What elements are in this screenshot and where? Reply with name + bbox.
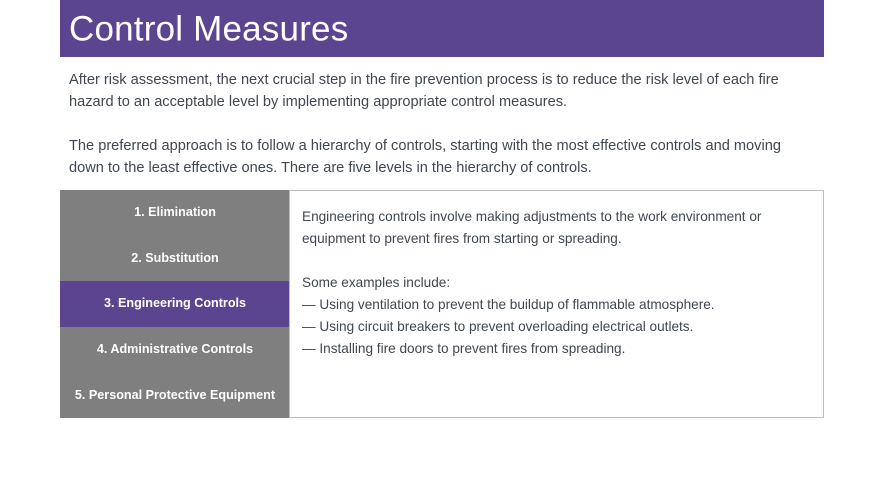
intro-text-block: After risk assessment, the next crucial … [69,69,817,179]
list-item: — Using circuit breakers to prevent over… [302,316,813,338]
page-title: Control Measures [69,11,348,46]
sidebar-item-administrative-controls[interactable]: 4. Administrative Controls [60,327,290,373]
sidebar-item-label: 4. Administrative Controls [97,342,253,357]
sidebar-item-label: 2. Substitution [131,251,218,266]
detail-content-panel: Engineering controls involve making adju… [289,190,824,418]
list-item: — Using ventilation to prevent the build… [302,294,813,316]
detail-content-inner: Engineering controls involve making adju… [302,206,813,360]
sidebar-item-personal-protective-equipment[interactable]: 5. Personal Protective Equipment [60,372,290,418]
sidebar-item-label: 3. Engineering Controls [104,296,246,311]
detail-examples-list: — Using ventilation to prevent the build… [302,294,813,360]
sidebar-item-substitution[interactable]: 2. Substitution [60,236,290,282]
list-item: — Installing fire doors to prevent fires… [302,338,813,360]
hierarchy-sidebar: 1. Elimination 2. Substitution 3. Engine… [60,190,290,418]
sidebar-item-label: 5. Personal Protective Equipment [75,388,275,403]
hierarchy-panel: 1. Elimination 2. Substitution 3. Engine… [60,190,824,418]
sidebar-item-engineering-controls[interactable]: 3. Engineering Controls [60,281,290,327]
detail-examples-heading: Some examples include: [302,272,813,294]
intro-paragraph-1: After risk assessment, the next crucial … [69,69,817,113]
sidebar-item-label: 1. Elimination [134,205,216,220]
intro-paragraph-2: The preferred approach is to follow a hi… [69,135,817,179]
slide-root: Control Measures After risk assessment, … [0,0,884,480]
sidebar-item-elimination[interactable]: 1. Elimination [60,190,290,236]
detail-intro-paragraph: Engineering controls involve making adju… [302,206,813,250]
slide-title-bar: Control Measures [60,0,824,57]
